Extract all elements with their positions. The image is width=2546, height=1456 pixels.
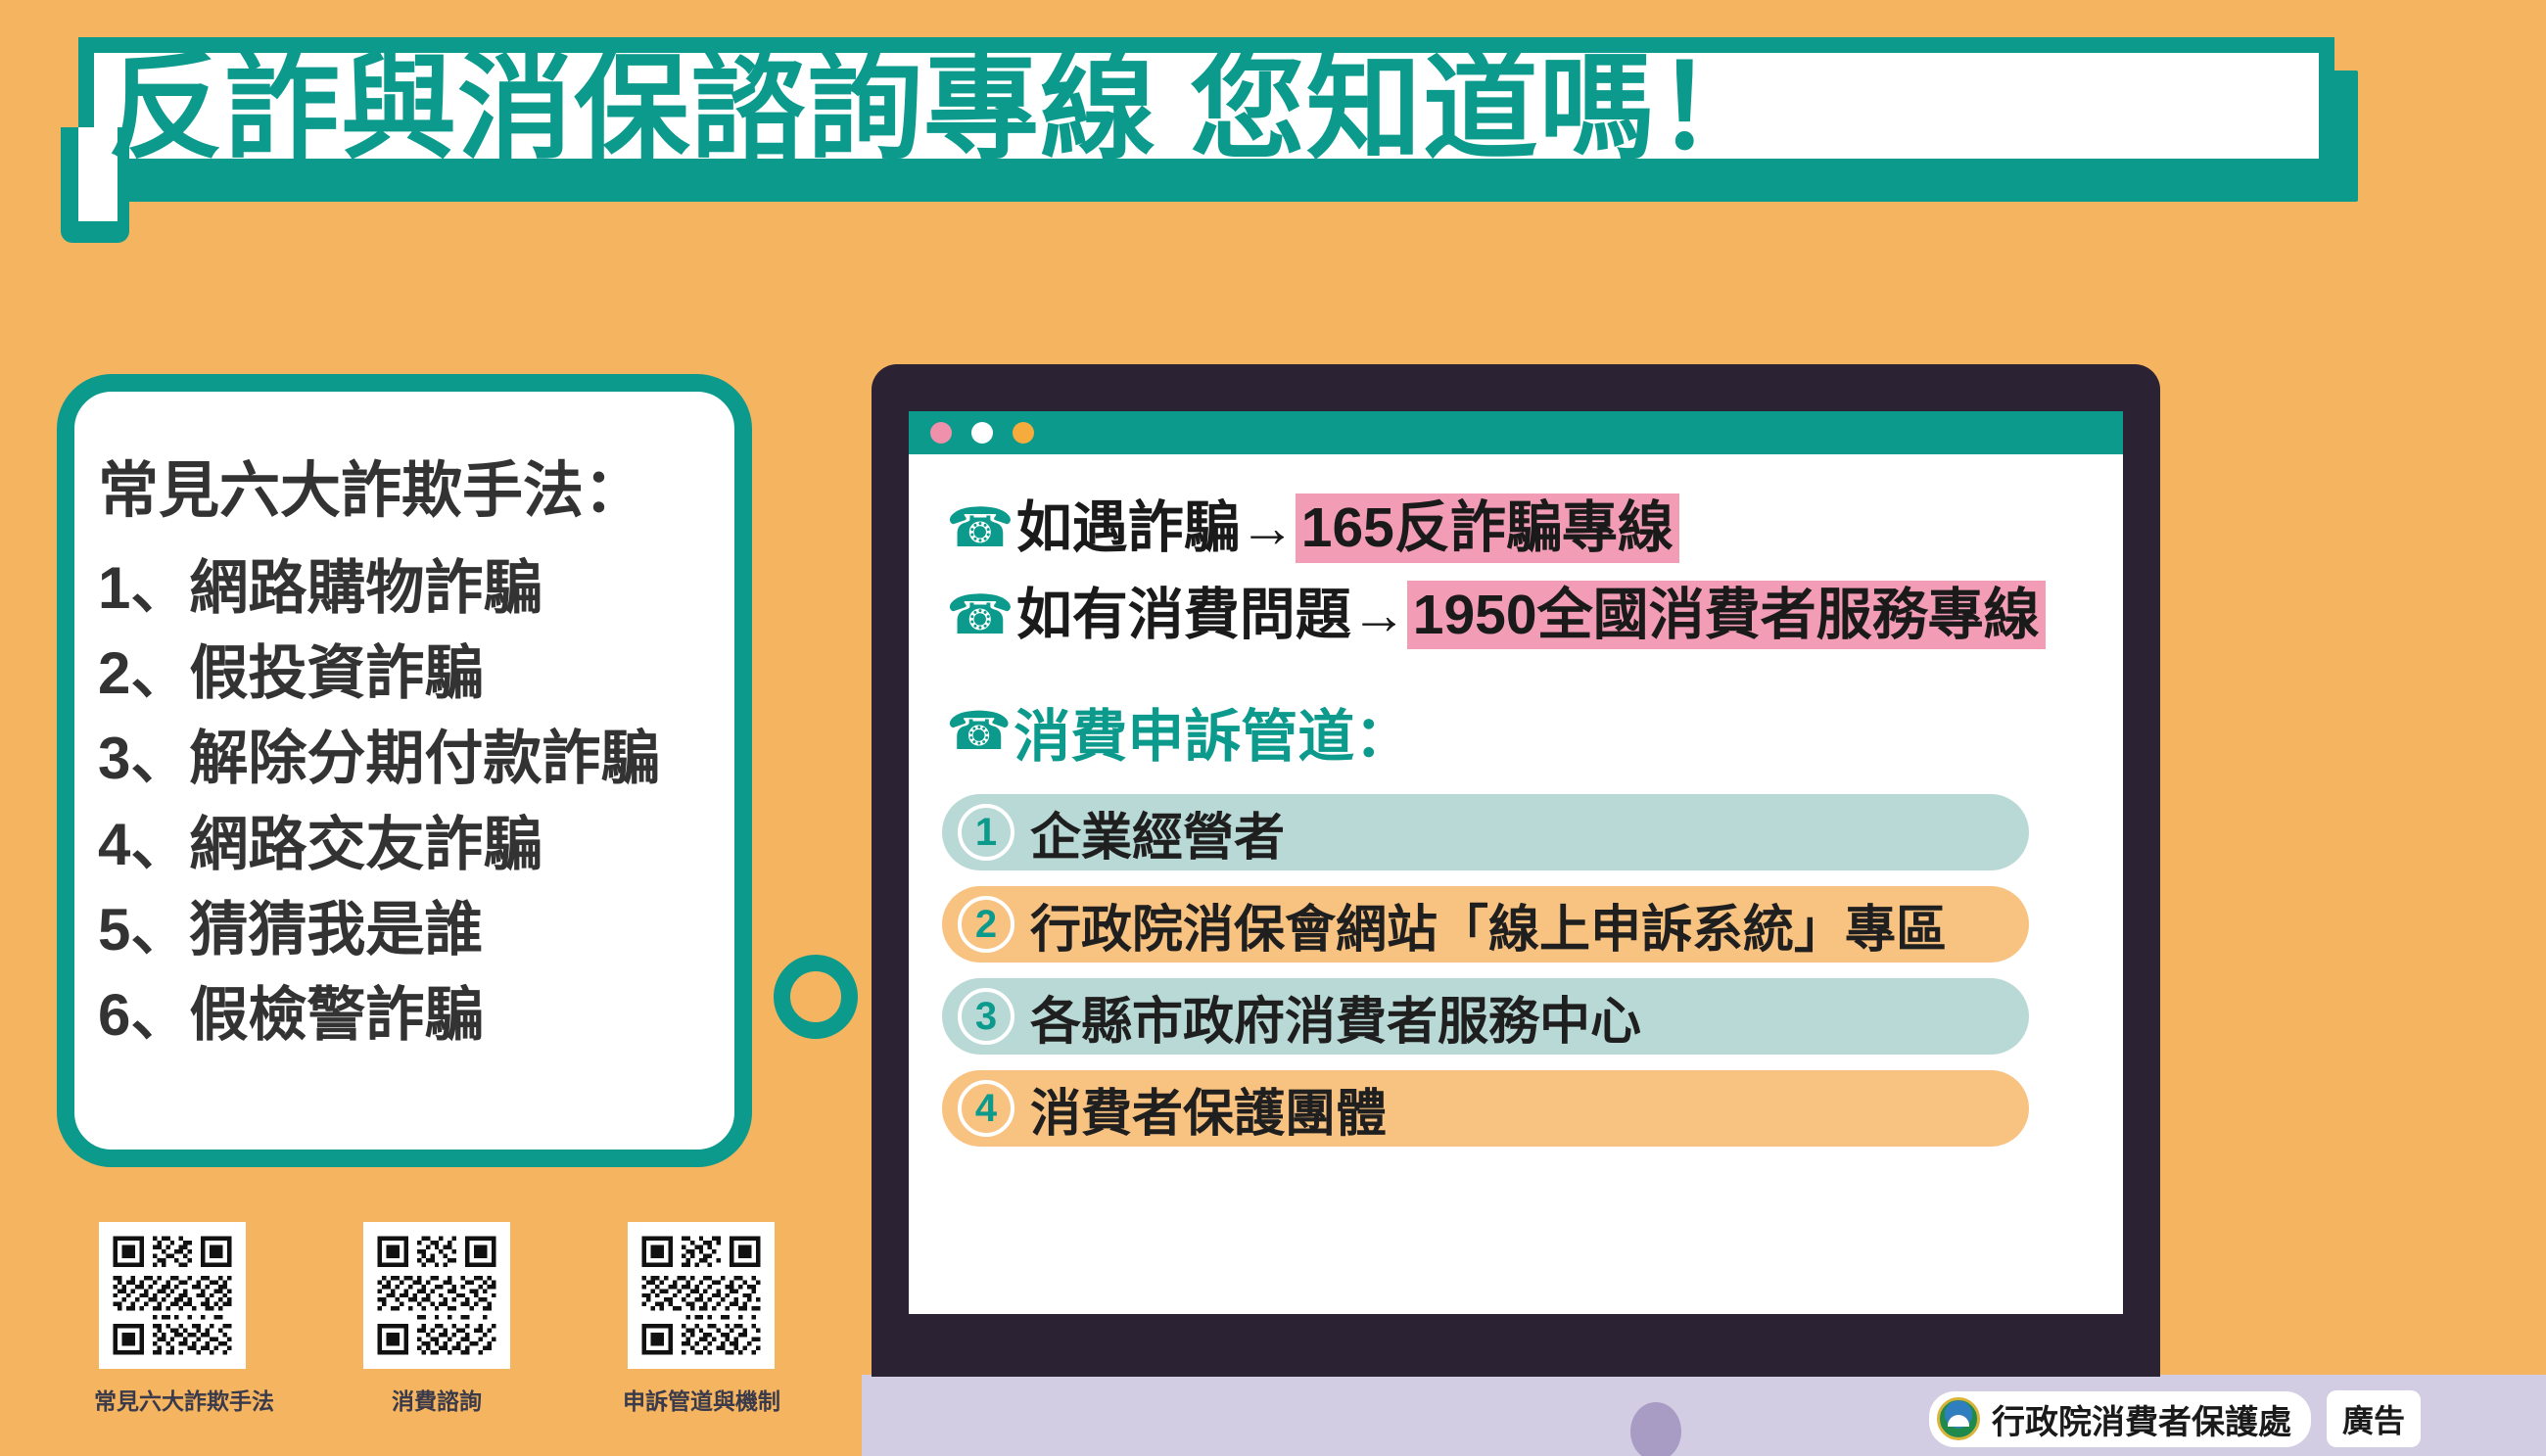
- list-item: 3、解除分期付款詐騙: [98, 723, 744, 794]
- channels-list: 1 企業經營者 2 行政院消保會網站「線上申訴系統」專區 3 各縣市政府消費者服…: [942, 794, 2029, 1147]
- channel-label: 行政院消保會網站「線上申訴系統」專區: [1030, 888, 1947, 962]
- list-item: 1、網路購物詐騙: [98, 552, 744, 624]
- qr-code-label: 申訴管道與機制: [623, 1383, 779, 1416]
- fraud-methods-heading: 常見六大詐欺手法：: [98, 441, 744, 529]
- agency-name: 行政院消費者保護處: [1992, 1395, 2291, 1443]
- window-close-dot[interactable]: [930, 422, 952, 444]
- footer: 行政院消費者保護處 廣告: [1929, 1390, 2421, 1447]
- channel-label: 企業經營者: [1030, 796, 1285, 869]
- telephone-icon: ☎: [946, 705, 1012, 758]
- qr-code-item[interactable]: 消費諮詢: [358, 1222, 515, 1416]
- channel-item[interactable]: 2 行政院消保會網站「線上申訴系統」專區: [942, 886, 2029, 963]
- qr-code-label: 常見六大詐欺手法: [94, 1383, 251, 1416]
- qr-code-icon[interactable]: [363, 1222, 510, 1369]
- list-item: 6、假檢警詐騙: [98, 979, 744, 1051]
- channel-label: 各縣市政府消費者服務中心: [1030, 980, 1641, 1054]
- channel-item[interactable]: 1 企業經營者: [942, 794, 2029, 870]
- agency-badge: 行政院消費者保護處: [1929, 1391, 2311, 1447]
- hotline-number-highlight: 1950全國消費者服務專線: [1407, 581, 2046, 650]
- hotline-number-highlight: 165反詐騙專線: [1296, 493, 1679, 563]
- browser-title-bar: [909, 411, 2123, 454]
- monitor-base-oval: [1630, 1402, 1681, 1456]
- telephone-icon: ☎: [946, 587, 1014, 642]
- qr-code-row: 常見六大詐欺手法: [94, 1222, 819, 1416]
- hotline-row: ☎ 如遇詐騙→ 165反詐騙專線: [946, 493, 2123, 563]
- hotline-prefix: 如有消費問題→: [1016, 585, 1407, 646]
- channel-item[interactable]: 3 各縣市政府消費者服務中心: [942, 978, 2029, 1055]
- channels-heading-label: 消費申訴管道：: [1014, 690, 1411, 773]
- list-item: 4、網路交友詐騙: [98, 809, 744, 880]
- channel-label: 消費者保護團體: [1030, 1072, 1387, 1146]
- channel-number: 2: [958, 896, 1014, 953]
- channel-number: 1: [958, 804, 1014, 861]
- page-title: 反詐與消保諮詢專線 您知道嗎！: [108, 35, 2350, 182]
- hotline-row: ☎ 如有消費問題→ 1950全國消費者服務專線: [946, 581, 2123, 650]
- qr-code-label: 消費諮詢: [358, 1383, 515, 1416]
- list-item: 5、猜猜我是誰: [98, 894, 744, 965]
- channels-heading: ☎ 消費申訴管道：: [946, 690, 2123, 773]
- ad-badge: 廣告: [2327, 1390, 2421, 1447]
- channel-number: 3: [958, 988, 1014, 1045]
- list-item: 2、假投資詐騙: [98, 637, 744, 709]
- poster-canvas: 反詐與消保諮詢專線 您知道嗎！ 常見六大詐欺手法： 1、網路購物詐騙 2、假投資…: [0, 0, 2546, 1456]
- telephone-icon: ☎: [946, 500, 1014, 555]
- fraud-methods-list: 常見六大詐欺手法： 1、網路購物詐騙 2、假投資詐騙 3、解除分期付款詐騙 4、…: [98, 441, 744, 1064]
- window-maximize-dot[interactable]: [1013, 422, 1034, 444]
- browser-content: ☎ 如遇詐騙→ 165反詐騙專線 ☎ 如有消費問題→ 1950全國消費者服務專線…: [909, 454, 2123, 1314]
- government-logo-icon: [1937, 1397, 1980, 1440]
- channel-number: 4: [958, 1080, 1014, 1137]
- connector-ring-large: [774, 955, 858, 1039]
- hotline-prefix: 如遇詐騙→: [1016, 497, 1296, 559]
- qr-code-item[interactable]: 申訴管道與機制: [623, 1222, 779, 1416]
- channel-item[interactable]: 4 消費者保護團體: [942, 1070, 2029, 1147]
- qr-code-item[interactable]: 常見六大詐欺手法: [94, 1222, 251, 1416]
- qr-code-icon[interactable]: [99, 1222, 246, 1369]
- qr-code-icon[interactable]: [628, 1222, 775, 1369]
- window-minimize-dot[interactable]: [971, 422, 993, 444]
- hotline-section: ☎ 如遇詐騙→ 165反詐騙專線 ☎ 如有消費問題→ 1950全國消費者服務專線: [909, 454, 2123, 649]
